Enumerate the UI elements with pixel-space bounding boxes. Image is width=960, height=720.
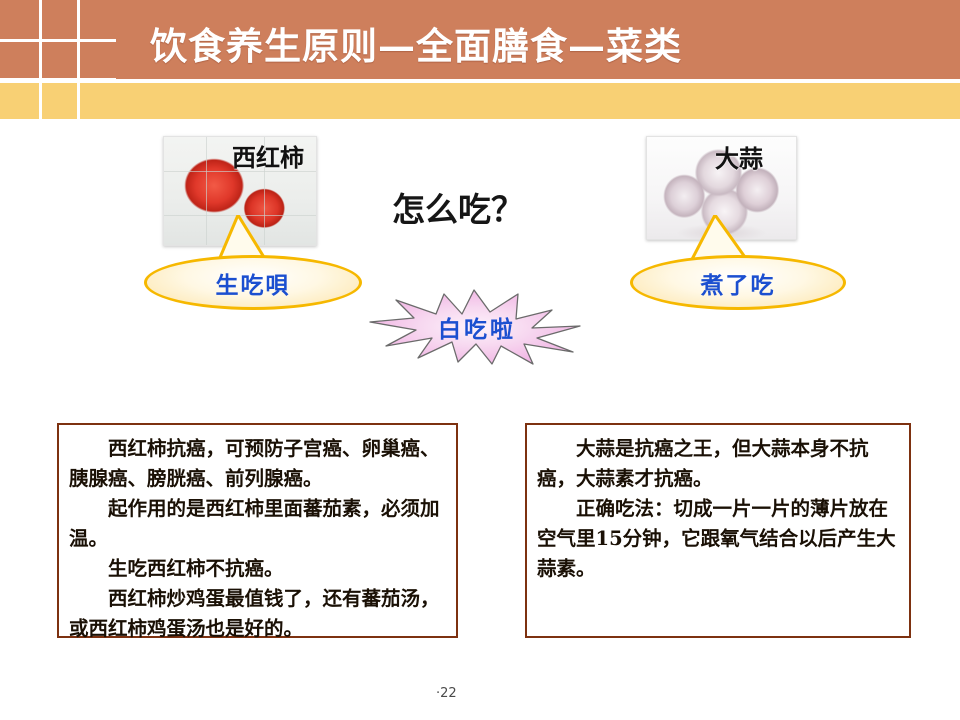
page-number: ·22 (436, 686, 457, 701)
callout-bubble-garlic[interactable]: 煮了吃 (630, 255, 846, 310)
photo-grid-line (0, 78, 116, 81)
callout-label-garlic: 煮了吃 (701, 266, 776, 300)
photo-grid-line (39, 0, 42, 119)
fact-paragraph: 起作用的是西红柿里面蕃茄素，必须加温。 (69, 494, 446, 554)
callout-label-tomato: 生吃唄 (216, 266, 291, 300)
tomato-photo-label: 西红柿 (232, 138, 304, 173)
header-accent-band (0, 83, 960, 119)
photo-grid-line (77, 0, 80, 119)
fact-paragraph: 大蒜是抗癌之王，但大蒜本身不抗癌，大蒜素才抗癌。 (537, 434, 899, 494)
callout-garlic[interactable]: 煮了吃 (630, 215, 846, 310)
fact-paragraph: 西红柿抗癌，可预防子宫癌、卵巢癌、胰腺癌、膀胱癌、前列腺癌。 (69, 434, 446, 494)
slide-canvas: 饮食养生原则—全面膳食—菜类 西红柿 大蒜 怎么吃？ 生吃唄 煮了吃 (0, 0, 960, 720)
garlic-photo-label: 大蒜 (715, 139, 763, 174)
starburst-shape[interactable] (366, 288, 588, 366)
page-number-value: 22 (440, 686, 457, 701)
callout-bubble-tomato[interactable]: 生吃唄 (144, 255, 362, 310)
garlic-facts-box: 大蒜是抗癌之王，但大蒜本身不抗癌，大蒜素才抗癌。 正确吃法：切成一片一片的薄片放… (525, 423, 911, 638)
center-question: 怎么吃？ (392, 183, 582, 231)
decorative-food-photo (0, 0, 116, 119)
fact-paragraph: 正确吃法：切成一片一片的薄片放在空气里15分钟，它跟氧气结合以后产生大蒜素。 (537, 494, 899, 584)
slide-title: 饮食养生原则—全面膳食—菜类 (150, 18, 850, 74)
fact-paragraph: 西红柿炒鸡蛋最值钱了，还有蕃茄汤，或西红柿鸡蛋汤也是好的。 (69, 584, 446, 644)
callout-tomato[interactable]: 生吃唄 (144, 215, 362, 310)
photo-grid-line (0, 39, 116, 42)
fact-paragraph: 生吃西红柿不抗癌。 (69, 554, 446, 584)
tomato-facts-box: 西红柿抗癌，可预防子宫癌、卵巢癌、胰腺癌、膀胱癌、前列腺癌。 起作用的是西红柿里… (57, 423, 458, 638)
